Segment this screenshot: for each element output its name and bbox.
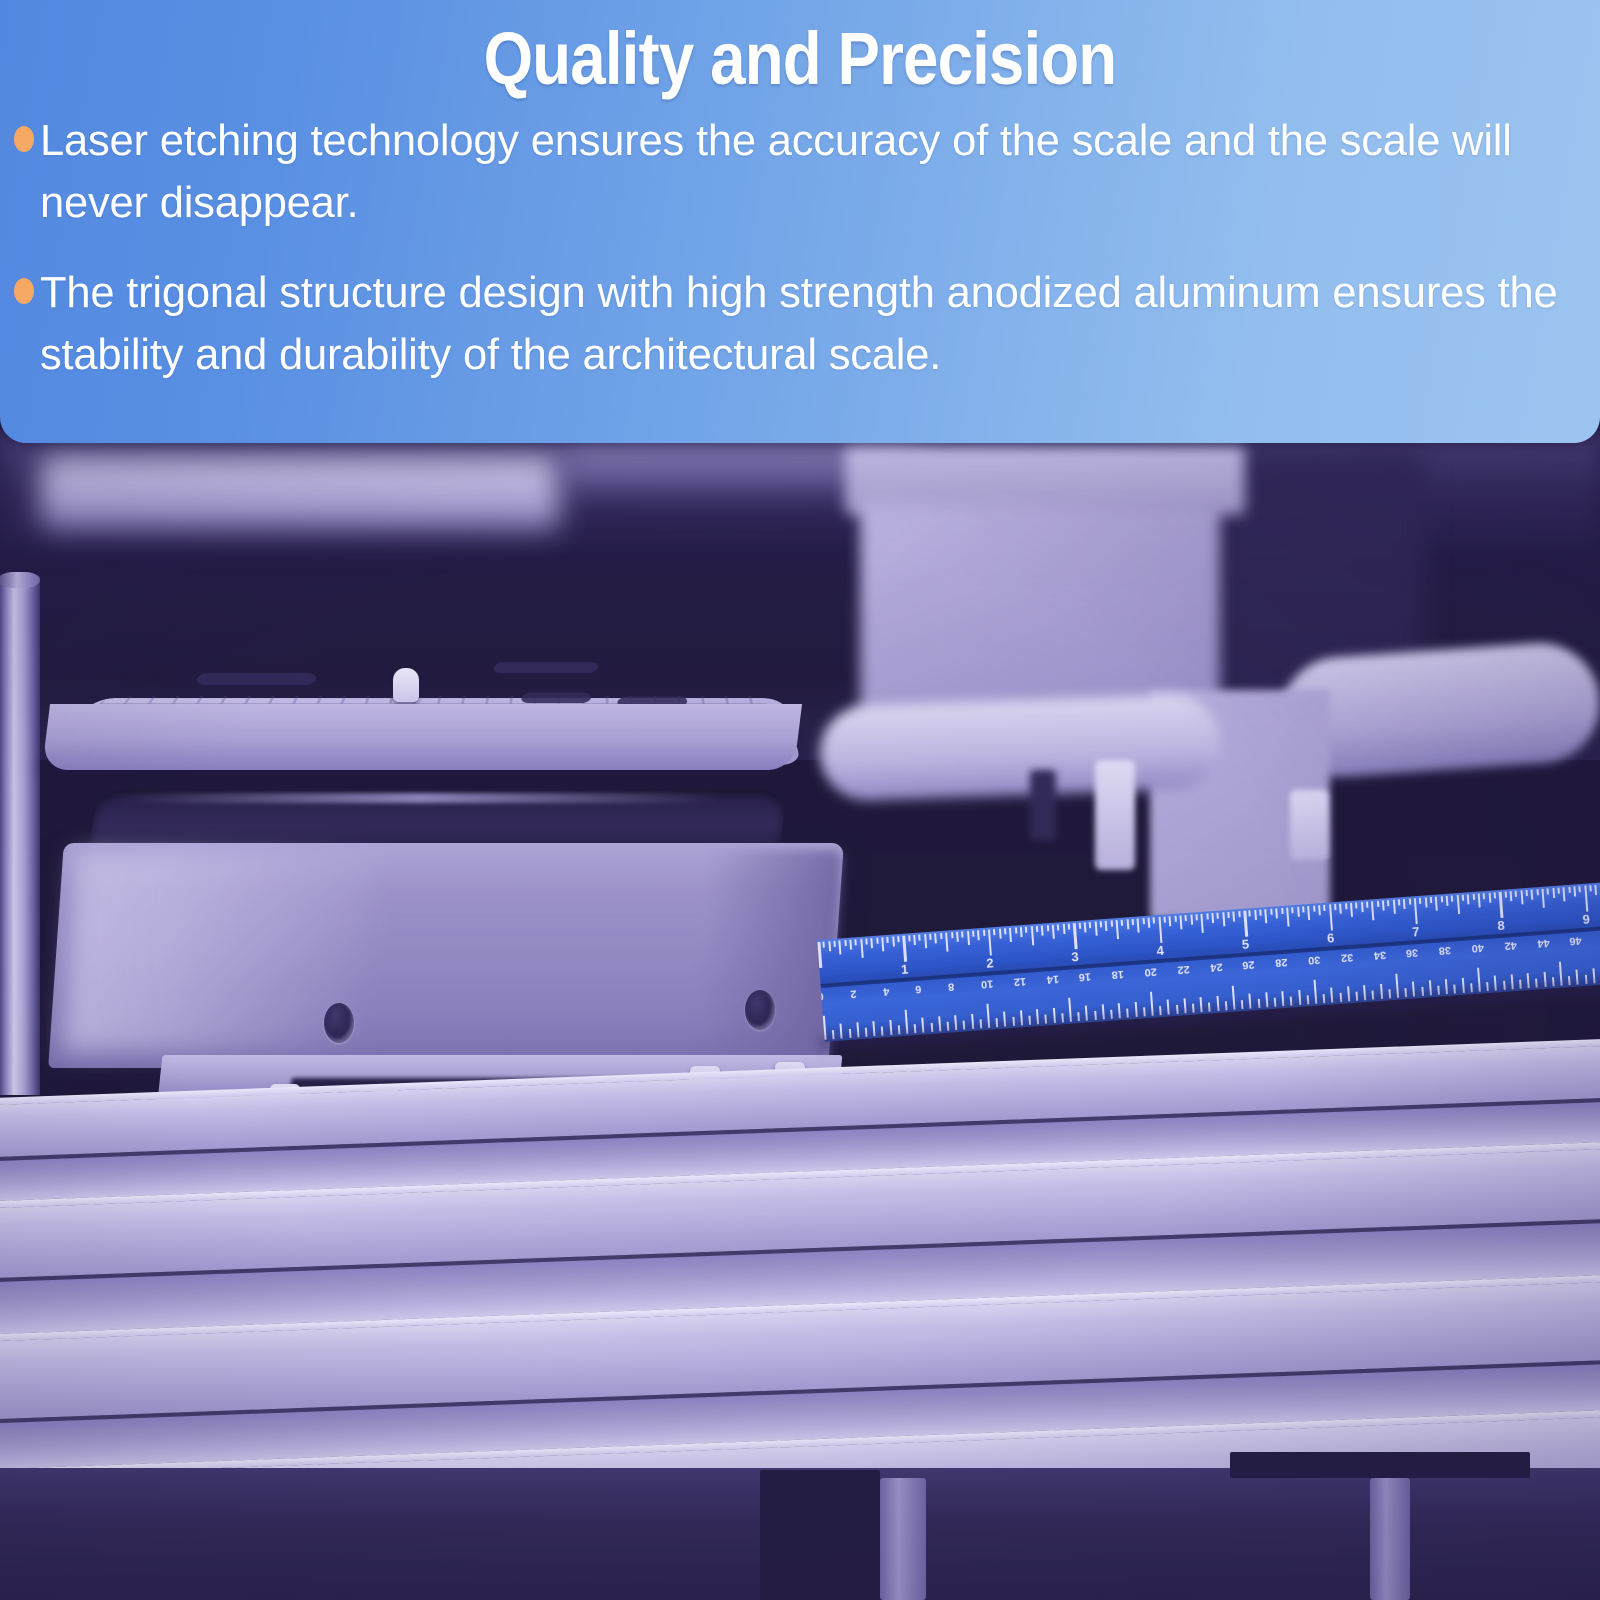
ruler-tick (1036, 926, 1038, 932)
ruler-tick (1030, 926, 1033, 945)
ruler-number: 26 (1242, 958, 1255, 971)
ruler-tick (1360, 902, 1363, 912)
ruler-tick (1217, 913, 1219, 919)
vertical-guide-rod (0, 575, 40, 1095)
ruler-tick (1510, 891, 1513, 901)
ruler-tick (1158, 917, 1162, 943)
ruler-tick (1281, 908, 1283, 914)
ruler-number: 20 (1144, 965, 1157, 978)
ruler-tick (1078, 923, 1080, 929)
ruler-tick (823, 1016, 827, 1040)
ruler-tick (1314, 980, 1318, 1004)
bullet-dot-icon (14, 126, 34, 152)
ruler-tick (1232, 986, 1236, 1010)
ruler-tick (1552, 888, 1555, 898)
feature-bullet-list: Laser etching technology ensures the acc… (14, 110, 1590, 414)
ruler-tick (945, 933, 948, 952)
list-item-label: The trigonal structure design with high … (40, 262, 1590, 386)
ruler-tick (833, 941, 835, 947)
ruler-number: 42 (1504, 939, 1517, 952)
ruler-tick (1350, 903, 1353, 917)
ruler-tick (1297, 907, 1300, 917)
ruler-tick (1563, 887, 1566, 901)
ruler-tick (986, 1004, 990, 1028)
ruler-tick (1589, 885, 1591, 891)
ruler-tick (1462, 895, 1464, 901)
ruler-tick (876, 938, 878, 944)
ruler-tick (1307, 906, 1310, 920)
ruler-tick (1126, 919, 1129, 929)
ruler-tick (1179, 915, 1182, 929)
ruler-tick (1084, 922, 1087, 932)
ruler-tick (1318, 905, 1321, 915)
ruler-number: 7 (1412, 924, 1420, 939)
ruler-tick (844, 940, 846, 946)
ruler-tick (1185, 915, 1187, 921)
ruler-number: 18 (1111, 968, 1124, 981)
ruler-tick (993, 929, 995, 935)
ruler-tick (1150, 992, 1154, 1016)
ruler-number: 8 (1497, 918, 1505, 933)
ruler-tick (1249, 910, 1251, 916)
ruler-number: 9 (1582, 911, 1590, 926)
ruler-tick (1116, 920, 1119, 939)
ruler-number: 16 (1079, 970, 1092, 983)
ruler-tick (817, 942, 821, 968)
ruler-number: 28 (1275, 956, 1288, 969)
ruler-tick (940, 933, 942, 939)
ruler-tick (972, 931, 974, 937)
ruler-tick (988, 929, 992, 955)
ruler-tick (1025, 927, 1027, 933)
ruler-tick (967, 931, 970, 945)
ruler-tick (1579, 886, 1581, 892)
ruler-tick (1345, 903, 1347, 909)
ruler-tick (1403, 899, 1406, 909)
ruler-tick (1275, 908, 1278, 918)
ruler-tick (908, 935, 910, 941)
ruler-tick (1558, 888, 1560, 894)
ruler-tick (977, 930, 980, 940)
ruler-tick (828, 941, 831, 951)
ruler-tick (1105, 921, 1108, 931)
ruler-number: 5 (1241, 937, 1249, 952)
ruler-tick (1573, 886, 1576, 896)
ruler-tick (982, 930, 984, 936)
feature-info-panel: Quality and Precision Laser etching tech… (0, 0, 1600, 443)
ruler-number: 4 (882, 985, 889, 997)
ruler-tick (892, 936, 895, 946)
ruler-number: 36 (1406, 946, 1419, 959)
ruler-tick (1206, 913, 1208, 919)
ruler-tick (1132, 919, 1134, 925)
ruler-tick (1339, 904, 1342, 914)
ruler-tick (1148, 918, 1151, 928)
ruler-tick (1041, 926, 1044, 936)
ruler-tick (1424, 897, 1427, 907)
ruler-tick (1467, 894, 1470, 904)
ruler-tick (1536, 889, 1538, 895)
ruler-number: 14 (1046, 973, 1059, 986)
ruler-number: 34 (1373, 949, 1386, 962)
ruler-tick (1259, 909, 1261, 915)
ruler-tick (865, 938, 867, 944)
ruler-number: 0 (821, 990, 824, 1002)
ruler-tick (1302, 906, 1304, 912)
background-guide-rod-left (818, 693, 1221, 802)
vertical-guide-rod-cap (0, 572, 40, 588)
ruler-number: 1 (901, 962, 909, 977)
ruler-tick (1238, 911, 1240, 917)
ruler-tick (1531, 890, 1534, 900)
ruler-tick (1392, 900, 1395, 914)
ruler-tick (897, 936, 899, 942)
ruler-tick (1387, 900, 1389, 906)
ruler-tick (951, 932, 953, 938)
ruler-tick (849, 940, 852, 950)
background-stud-right (1290, 790, 1328, 860)
ruler-tick (1195, 914, 1197, 920)
ruler-tick (1329, 904, 1333, 930)
page-title: Quality and Precision (112, 16, 1488, 101)
ruler-tick (1270, 909, 1272, 915)
ruler-tick (1584, 886, 1588, 912)
ruler-tick (1541, 889, 1544, 908)
ruler-tick (1142, 918, 1144, 924)
ruler-tick (1366, 902, 1368, 908)
ruler-tick (1291, 907, 1293, 913)
ruler-tick (1408, 899, 1410, 905)
ruler-tick (1254, 910, 1257, 920)
ruler-tick (1265, 909, 1268, 923)
ruler-tick (1499, 892, 1503, 918)
ruler-tick (998, 929, 1001, 939)
table-slot (492, 662, 599, 673)
ruler-tick (1526, 890, 1528, 896)
ruler-tick (1435, 897, 1438, 911)
ruler-tick (1164, 917, 1166, 923)
frame-leg (880, 1478, 926, 1600)
ruler-number: 32 (1340, 951, 1353, 964)
ruler-tick (1052, 925, 1055, 939)
ruler-tick (1211, 913, 1214, 923)
ruler-tick (1190, 915, 1193, 925)
list-item-label: Laser etching technology ensures the acc… (40, 110, 1590, 234)
ruler-tick (1398, 899, 1400, 905)
ruler-tick (871, 938, 874, 948)
ruler-tick (913, 935, 916, 945)
background-light-strip (40, 455, 560, 530)
ruler-tick (1286, 908, 1289, 927)
ruler-tick (1100, 921, 1102, 927)
ruler-tick (1062, 924, 1065, 934)
gasket-highlight (119, 793, 720, 803)
ruler-tick (1243, 911, 1247, 937)
ruler-tick (1009, 928, 1012, 942)
frame-leg-shadow (760, 1470, 880, 1600)
ruler-tick (881, 937, 884, 951)
ruler-tick (1355, 902, 1357, 908)
ruler-tick (1515, 891, 1517, 897)
ruler-tick (1414, 898, 1418, 924)
ruler-number: 2 (986, 955, 994, 970)
ruler-tick (1046, 925, 1048, 931)
locating-pin (393, 668, 419, 702)
frame-leg (1370, 1478, 1410, 1600)
ruler-tick (1446, 896, 1449, 906)
ruler-tick (1520, 890, 1523, 904)
ruler-tick (1089, 922, 1091, 928)
ruler-tick (956, 932, 959, 942)
rotary-table-plate-edge (42, 704, 802, 770)
ruler-number: 12 (1013, 975, 1026, 988)
ruler-tick (1014, 927, 1016, 933)
ruler-number: 6 (915, 983, 922, 995)
ruler-number: 24 (1209, 961, 1222, 974)
ruler-tick (1121, 920, 1123, 926)
ruler-number: 22 (1177, 963, 1190, 976)
ruler-tick (1547, 888, 1549, 894)
ruler-tick (1169, 916, 1172, 926)
bullet-dot-icon (14, 278, 34, 304)
ruler-tick (1068, 998, 1072, 1022)
ruler-tick (1313, 906, 1315, 912)
ruler-tick (1376, 901, 1378, 907)
ruler-tick (1382, 901, 1385, 911)
ruler-number: 44 (1537, 937, 1550, 950)
ruler-tick (1201, 914, 1204, 933)
ruler-tick (1057, 924, 1059, 930)
background-stud-left (1095, 760, 1135, 870)
ruler-tick (1227, 912, 1229, 918)
ruler-tick (1494, 892, 1496, 898)
ruler-tick (1451, 895, 1453, 901)
ruler-tick (935, 933, 938, 943)
ruler-tick (924, 934, 927, 948)
mounting-hole (745, 990, 775, 1030)
ruler-tick (1137, 918, 1140, 932)
ruler-tick (1233, 911, 1236, 921)
ruler-number: 40 (1471, 941, 1484, 954)
ruler-tick (1323, 905, 1325, 911)
ruler-tick (1478, 893, 1481, 907)
ruler-tick (1568, 887, 1570, 893)
ruler-tick (1068, 924, 1070, 930)
ruler-tick (1073, 923, 1077, 949)
ruler-tick (1488, 893, 1491, 903)
ruler-tick (1419, 898, 1421, 904)
frame-leg-shadow (1230, 1452, 1530, 1478)
ruler-tick (1477, 968, 1481, 992)
ruler-tick (1110, 920, 1112, 926)
ruler-tick (1504, 892, 1506, 898)
ruler-tick (905, 1010, 909, 1034)
list-item: The trigonal structure design with high … (14, 262, 1590, 386)
ruler-tick (1153, 917, 1155, 923)
list-item: Laser etching technology ensures the acc… (14, 110, 1590, 234)
ruler-number: 46 (1569, 934, 1582, 947)
ruler-tick (1222, 912, 1225, 926)
ruler-number: 2 (850, 987, 857, 999)
table-slot (195, 673, 317, 685)
background-dark-gap (1030, 770, 1056, 840)
ruler-tick (1456, 895, 1459, 914)
ruler-tick (887, 937, 889, 943)
ruler-tick (855, 939, 857, 945)
ruler-number: 38 (1438, 944, 1451, 957)
ruler-number: 6 (1326, 930, 1334, 945)
ruler-tick (1334, 904, 1336, 910)
ruler-tick (1395, 974, 1399, 998)
ruler-tick (1483, 893, 1485, 899)
ruler-tick (1371, 901, 1374, 920)
ruler-tick (1595, 885, 1598, 895)
ruler-number: 8 (948, 980, 955, 992)
ruler-number: 10 (981, 977, 994, 990)
table-slot (520, 693, 592, 703)
ruler-tick (1430, 897, 1432, 903)
ruler-tick (1094, 922, 1097, 936)
ruler-tick (860, 939, 863, 958)
ruler-tick (839, 940, 842, 954)
ruler-tick (961, 931, 963, 937)
ruler-tick (823, 942, 825, 948)
ruler-tick (1004, 928, 1006, 934)
ruler-tick (1559, 962, 1563, 986)
mounting-hole (324, 1003, 354, 1043)
ruler-number: 30 (1308, 953, 1321, 966)
ruler-tick (919, 935, 921, 941)
ruler-number: 4 (1156, 943, 1164, 958)
ruler-number: 3 (1071, 949, 1079, 964)
ruler-tick (1020, 927, 1023, 937)
ruler-tick (903, 936, 907, 962)
ruler-tick (1472, 894, 1474, 900)
ruler-tick (1174, 916, 1176, 922)
ruler-tick (929, 934, 931, 940)
ruler-tick (1440, 896, 1442, 902)
